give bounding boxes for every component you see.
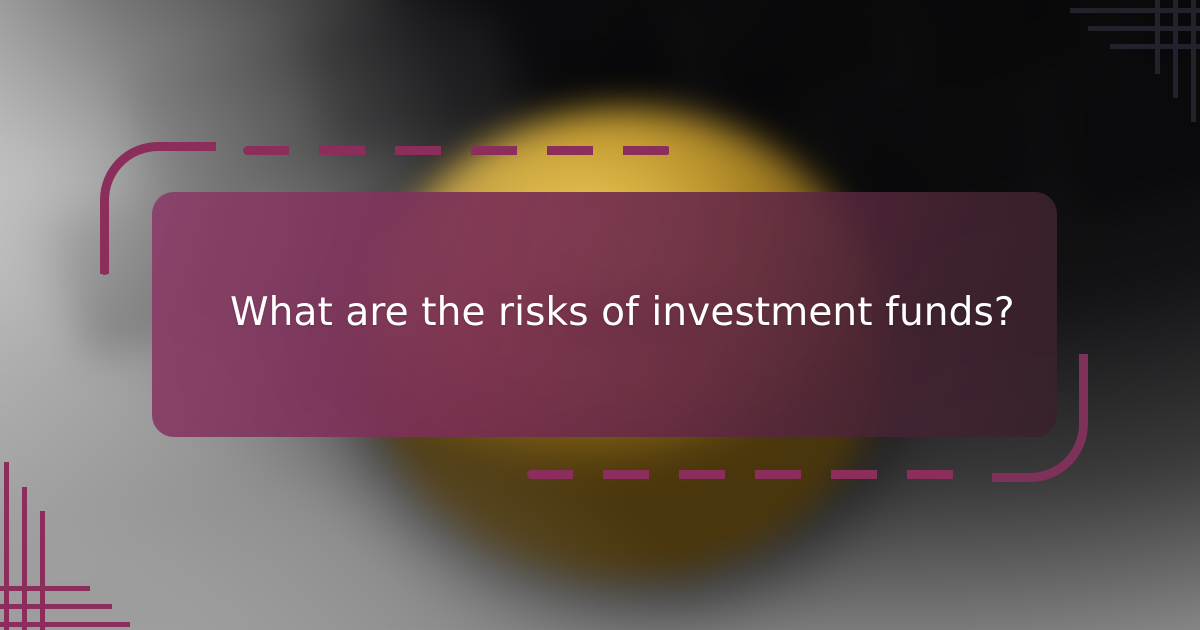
bracket-bottom-right-cap (992, 473, 1002, 482)
corner-line-vertical (1173, 0, 1178, 98)
corner-line-vertical (1191, 0, 1196, 122)
dashed-rule-top (243, 146, 671, 155)
corner-lines-bottom-left (0, 440, 130, 630)
social-card-canvas: What are the risks of investment funds? (0, 0, 1200, 630)
card-title: What are the risks of investment funds? (152, 290, 1015, 339)
corner-line-horizontal (0, 622, 130, 627)
corner-line-horizontal (0, 604, 112, 609)
corner-line-horizontal (1088, 26, 1200, 31)
corner-line-horizontal (0, 586, 90, 591)
corner-line-vertical (40, 511, 45, 630)
question-card: What are the risks of investment funds? (152, 192, 1057, 437)
corner-line-horizontal (1070, 8, 1200, 13)
corner-line-horizontal (1110, 44, 1200, 49)
dashed-rule-bottom (527, 470, 957, 479)
corner-lines-top-right (1070, 0, 1200, 130)
bracket-top-left-cap (100, 265, 109, 275)
